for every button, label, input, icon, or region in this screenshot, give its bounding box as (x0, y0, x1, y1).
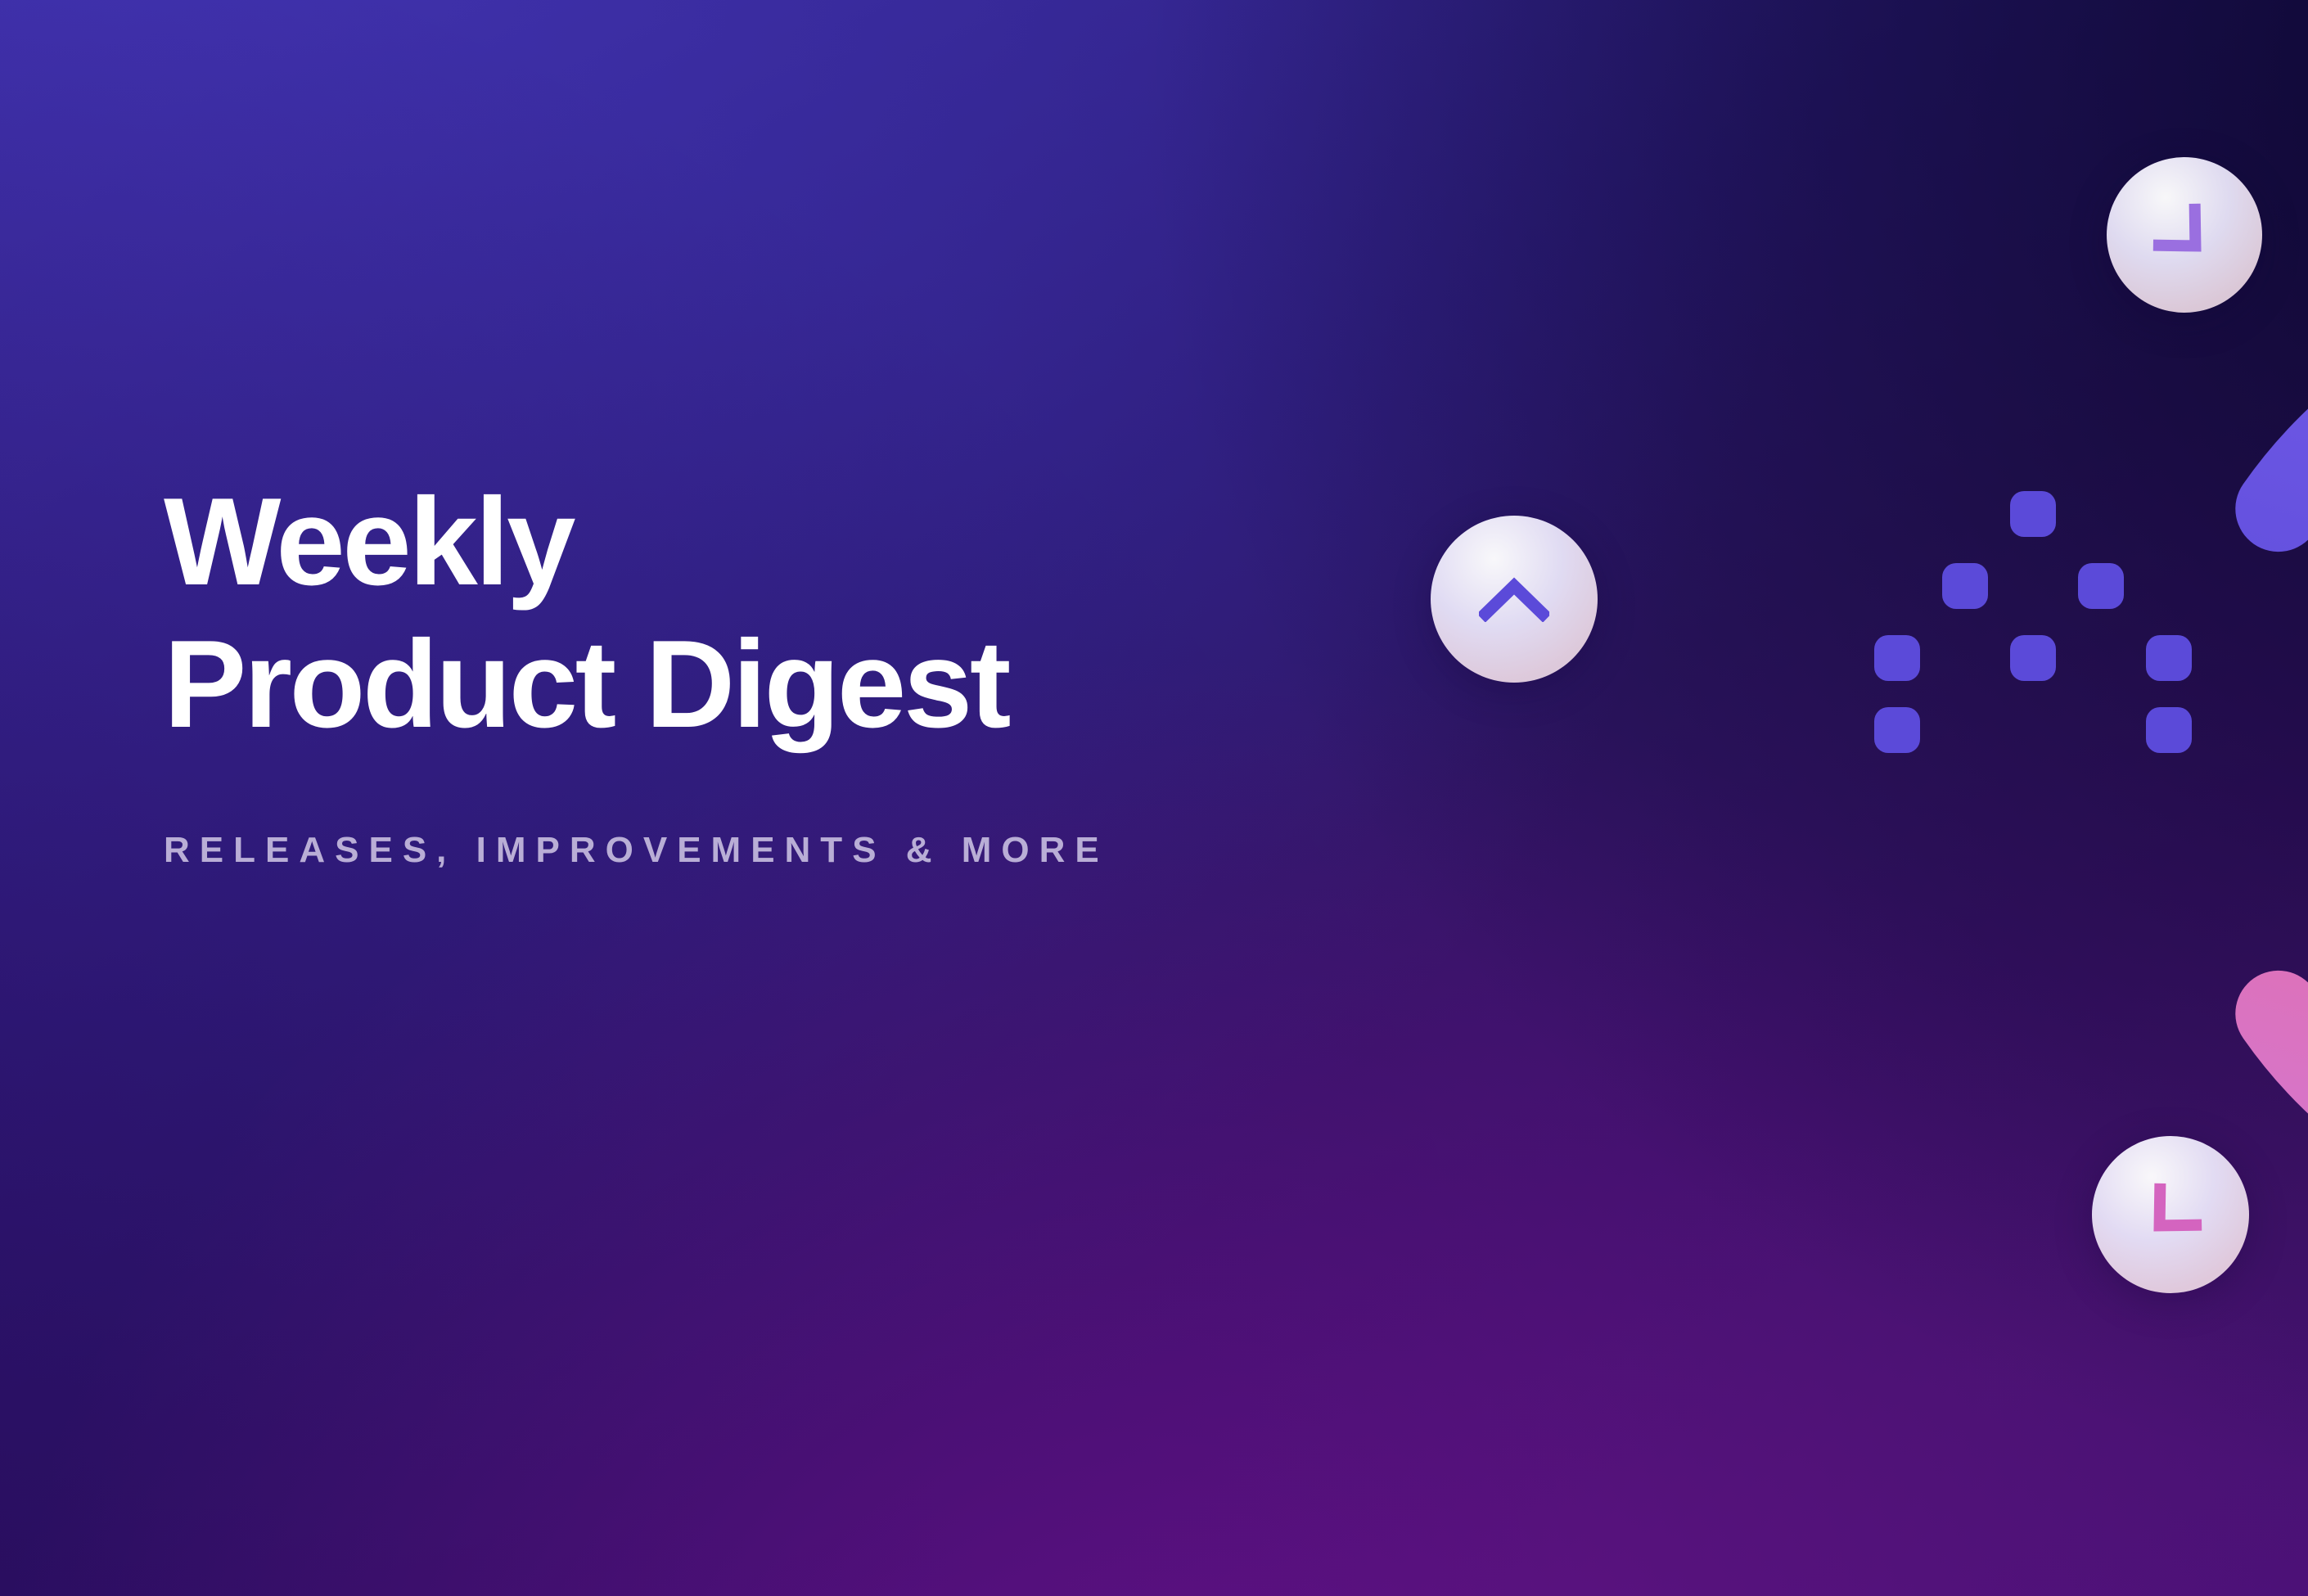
banner-subtitle: RELEASES, IMPROVEMENTS & MORE (164, 830, 1440, 871)
banner-text-block: Weekly Product Digest RELEASES, IMPROVEM… (164, 475, 1440, 871)
headline-line-1: Weekly (164, 475, 1440, 609)
dot-matrix-cell (2146, 635, 2192, 681)
chevron-up-rotated-icon (2137, 1181, 2204, 1248)
node-chevron-bottomright[interactable] (2092, 1136, 2249, 1293)
dot-matrix-pattern (1874, 491, 2190, 761)
dot-matrix-cell (2078, 563, 2124, 609)
node-chevron-topright[interactable] (2107, 157, 2262, 313)
chevron-up-rotated-icon (2151, 201, 2218, 268)
dot-matrix-cell (1874, 707, 1920, 753)
dot-matrix-cell (2010, 635, 2056, 681)
weekly-product-digest-banner: Weekly Product Digest RELEASES, IMPROVEM… (0, 0, 2308, 1596)
headline-line-2: Product Digest (164, 617, 1440, 751)
dot-matrix-cell (1874, 635, 1920, 681)
node-chevron-up[interactable] (1431, 516, 1598, 683)
dot-matrix-cell (1942, 563, 1988, 609)
dot-matrix-cell (2010, 491, 2056, 537)
chevron-up-icon (1479, 576, 1549, 622)
dot-matrix-cell (2146, 707, 2192, 753)
banner-graphic (1342, 106, 2308, 1498)
